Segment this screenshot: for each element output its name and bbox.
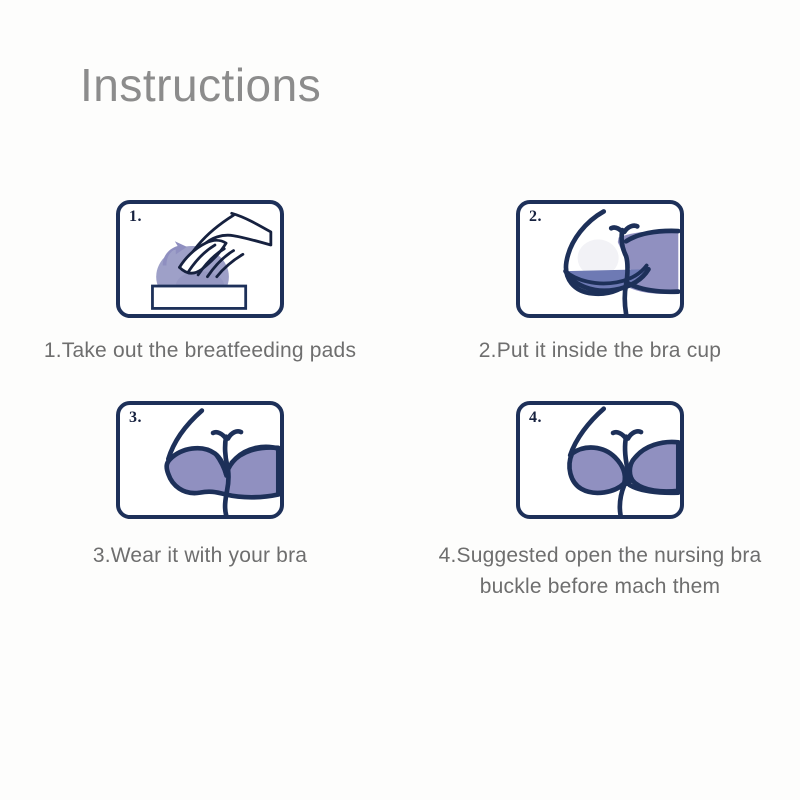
instruction-step-4: 4.: [400, 401, 800, 602]
open-nursing-bra-buckle-icon: [520, 405, 680, 515]
steps-row-top: 1.: [0, 200, 800, 366]
instruction-steps-grid: 1.: [0, 200, 800, 602]
step-4-caption: 4.Suggested open the nursing bra buckle …: [410, 541, 790, 602]
instruction-step-1: 1.: [0, 200, 400, 366]
step-3-number: 3.: [129, 409, 142, 427]
instruction-step-2: 2.: [400, 200, 800, 366]
pad-inside-bra-cup-icon: [520, 204, 680, 314]
step-3-caption-line1: 3.Wear it with your bra: [93, 544, 307, 567]
step-4-illustration-panel: 4.: [516, 401, 684, 519]
step-1-number: 1.: [129, 208, 142, 226]
step-1-caption-line1: 1.Take out the breatfeeding pads: [44, 339, 356, 362]
step-2-caption: 2.Put it inside the bra cup: [410, 336, 790, 366]
instruction-step-3: 3.: [0, 401, 400, 602]
step-1-illustration-panel: 1.: [116, 200, 284, 318]
step-3-caption: 3.Wear it with your bra: [10, 541, 390, 571]
step-2-illustration-panel: 2.: [516, 200, 684, 318]
steps-row-bottom: 3.: [0, 401, 800, 602]
hand-taking-pad-from-box-icon: [120, 204, 280, 314]
wearing-bra-icon: [120, 405, 280, 515]
step-4-caption-line2: buckle before mach them: [410, 572, 790, 602]
page-title: Instructions: [80, 62, 321, 108]
step-1-caption: 1.Take out the breatfeeding pads: [10, 336, 390, 366]
step-4-number: 4.: [529, 409, 542, 427]
step-4-caption-line1: 4.Suggested open the nursing bra: [439, 544, 762, 567]
step-2-caption-line1: 2.Put it inside the bra cup: [479, 339, 721, 362]
step-3-illustration-panel: 3.: [116, 401, 284, 519]
step-2-number: 2.: [529, 208, 542, 226]
